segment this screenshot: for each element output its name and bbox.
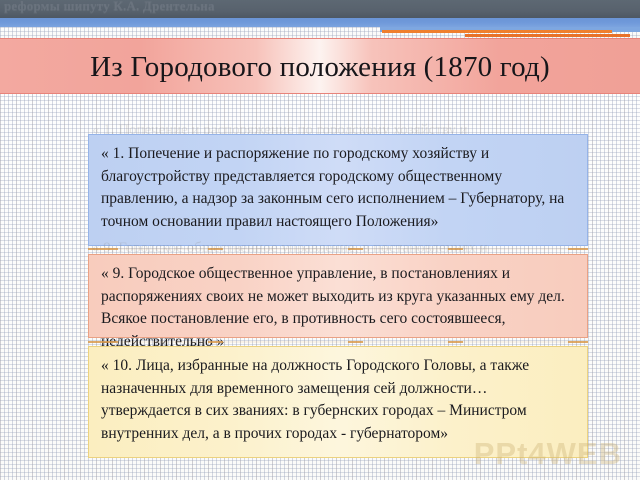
slide: реформы шипуту К.А. Дрентельна Из Городо… (0, 0, 640, 480)
page-title: Из Городового положения (1870 год) (0, 39, 640, 95)
title-band: Из Городового положения (1870 год) (0, 38, 640, 94)
content-box-article-9: « 9. Городское общественное управление, … (88, 254, 588, 338)
blue-accent-band (0, 18, 640, 27)
box-separator-lower (88, 341, 588, 343)
watermark: PPt4WEB (474, 436, 622, 472)
top-header-bar: реформы шипуту К.А. Дрентельна (0, 0, 640, 18)
breadcrumb: реформы шипуту К.А. Дрентельна (4, 0, 215, 14)
orange-accent-rule-upper (382, 30, 612, 33)
content-box-article-1: « 1. Попечение и распоряжение по городск… (88, 134, 588, 246)
orange-accent-rule-lower (465, 34, 630, 37)
